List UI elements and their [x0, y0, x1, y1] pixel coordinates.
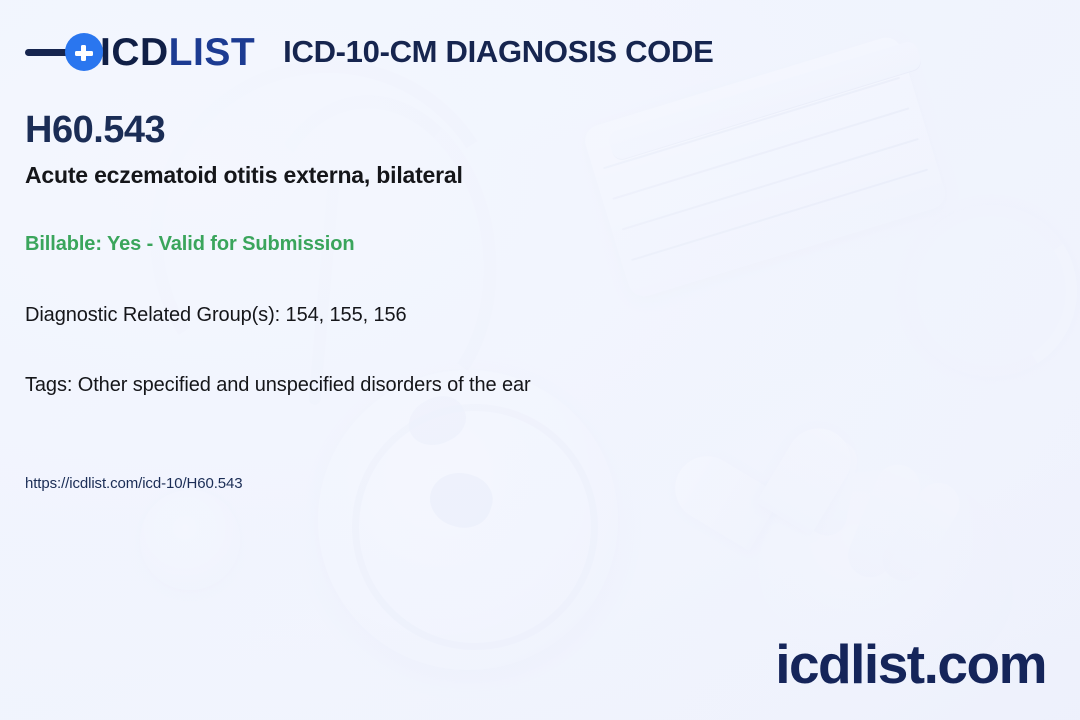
diagnostic-related-groups: Diagnostic Related Group(s): 154, 155, 1… — [25, 304, 1050, 327]
tags-line: Tags: Other specified and unspecified di… — [25, 374, 1050, 397]
stethoscope-diaphragm-icon — [140, 490, 240, 590]
icd-code-card: ICD LIST ICD-10-CM DIAGNOSIS CODE H60.54… — [0, 0, 1080, 720]
logo-text-primary: ICD — [100, 33, 169, 72]
plus-circle-icon — [65, 33, 103, 71]
page-title: ICD-10-CM DIAGNOSIS CODE — [283, 34, 713, 70]
diagnosis-code: H60.543 — [25, 110, 1050, 152]
source-url[interactable]: https://icdlist.com/icd-10/H60.543 — [25, 475, 1050, 492]
footer-brand: icdlist.com — [775, 637, 1046, 692]
hand-finger-icon — [875, 475, 968, 589]
page-header: ICD LIST ICD-10-CM DIAGNOSIS CODE — [25, 29, 713, 75]
billable-status: Billable: Yes - Valid for Submission — [25, 233, 1050, 256]
diagnosis-description: Acute eczematoid otitis externa, bilater… — [25, 162, 1050, 189]
logo-text-secondary: LIST — [169, 33, 256, 72]
code-details: H60.543 Acute eczematoid otitis externa,… — [25, 110, 1050, 492]
icdlist-logo[interactable]: ICD LIST — [25, 29, 255, 75]
